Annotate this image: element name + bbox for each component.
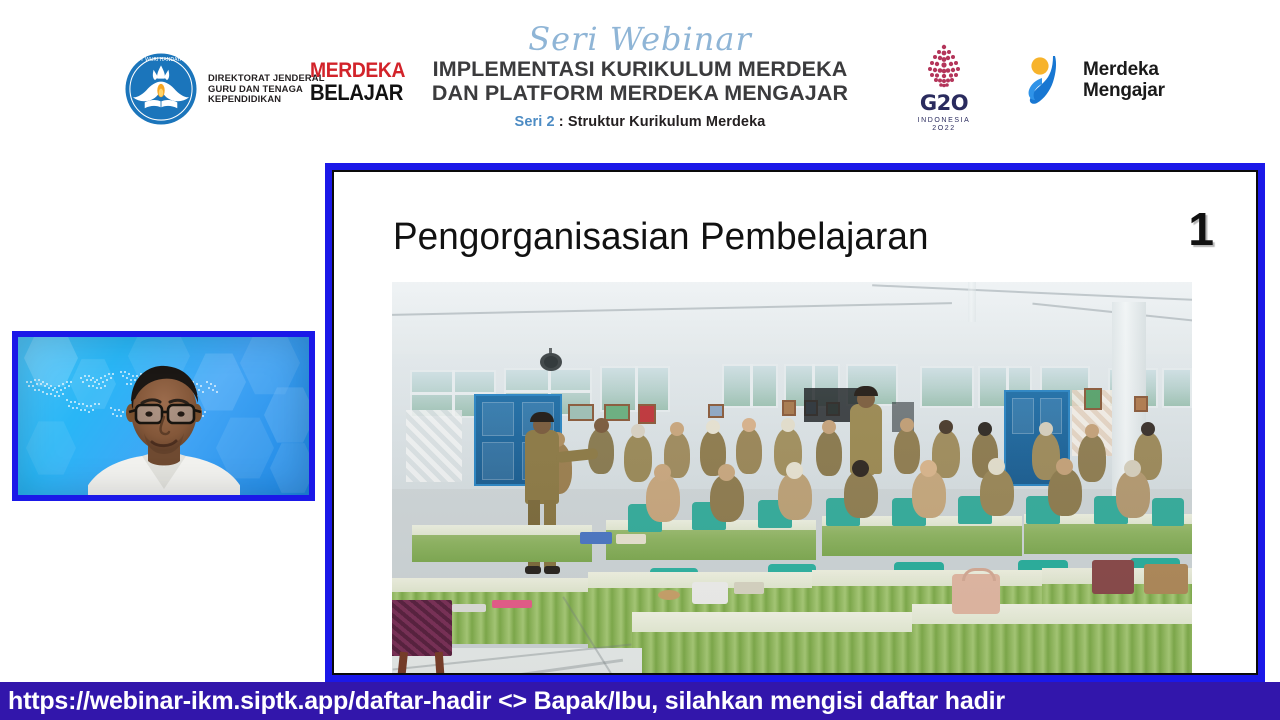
ticker-message: Bapak/Ibu, silahkan mengisi daftar hadir bbox=[534, 687, 1005, 715]
shared-slide-frame[interactable]: Pengorganisasian Pembelajaran 1 bbox=[325, 163, 1265, 682]
slide-number: 1 bbox=[1188, 206, 1214, 252]
ticker-url: https://webinar-ikm.siptk.app/daftar-had… bbox=[8, 687, 491, 715]
partner-logo-group: G2O INDONESIA 2O22 Merdeka Mengajar bbox=[908, 42, 1165, 132]
webinar-header: TUT WURI HANDAYANI DIREKTORAT JENDERAL G… bbox=[0, 0, 1280, 160]
ticker-separator: <> bbox=[491, 687, 533, 715]
g20-ornament-icon bbox=[921, 42, 967, 92]
slide-photo bbox=[392, 282, 1192, 675]
g20-year: 2O22 bbox=[908, 125, 980, 132]
mm-line-2: Mengajar bbox=[1083, 80, 1165, 101]
g20-wordmark: G2O bbox=[908, 93, 980, 114]
slide-inner-border: Pengorganisasian Pembelajaran 1 bbox=[332, 170, 1258, 675]
series-title: Struktur Kurikulum Merdeka bbox=[568, 114, 766, 130]
series-label: Seri 2 bbox=[515, 114, 555, 130]
merdeka-mengajar-mark-icon bbox=[1020, 54, 1072, 106]
presenter-video-tile[interactable] bbox=[12, 331, 315, 501]
merdeka-mengajar-logo: Merdeka Mengajar bbox=[1020, 54, 1165, 106]
merdeka-mengajar-wordmark: Merdeka Mengajar bbox=[1083, 59, 1165, 101]
slide-canvas: Pengorganisasian Pembelajaran 1 bbox=[334, 172, 1256, 673]
series-separator: : bbox=[555, 114, 568, 130]
ticker-content: https://webinar-ikm.siptk.app/daftar-had… bbox=[0, 687, 1005, 716]
video-vignette bbox=[18, 337, 309, 495]
screen-root: TUT WURI HANDAYANI DIREKTORAT JENDERAL G… bbox=[0, 0, 1280, 720]
scrolling-ticker-bar: https://webinar-ikm.siptk.app/daftar-had… bbox=[0, 682, 1280, 720]
presenter-video-content bbox=[18, 337, 309, 495]
mm-line-1: Merdeka bbox=[1083, 59, 1165, 80]
g20-country: INDONESIA bbox=[908, 117, 980, 124]
g20-logo: G2O INDONESIA 2O22 bbox=[908, 42, 980, 132]
slide-title: Pengorganisasian Pembelajaran bbox=[393, 216, 929, 259]
